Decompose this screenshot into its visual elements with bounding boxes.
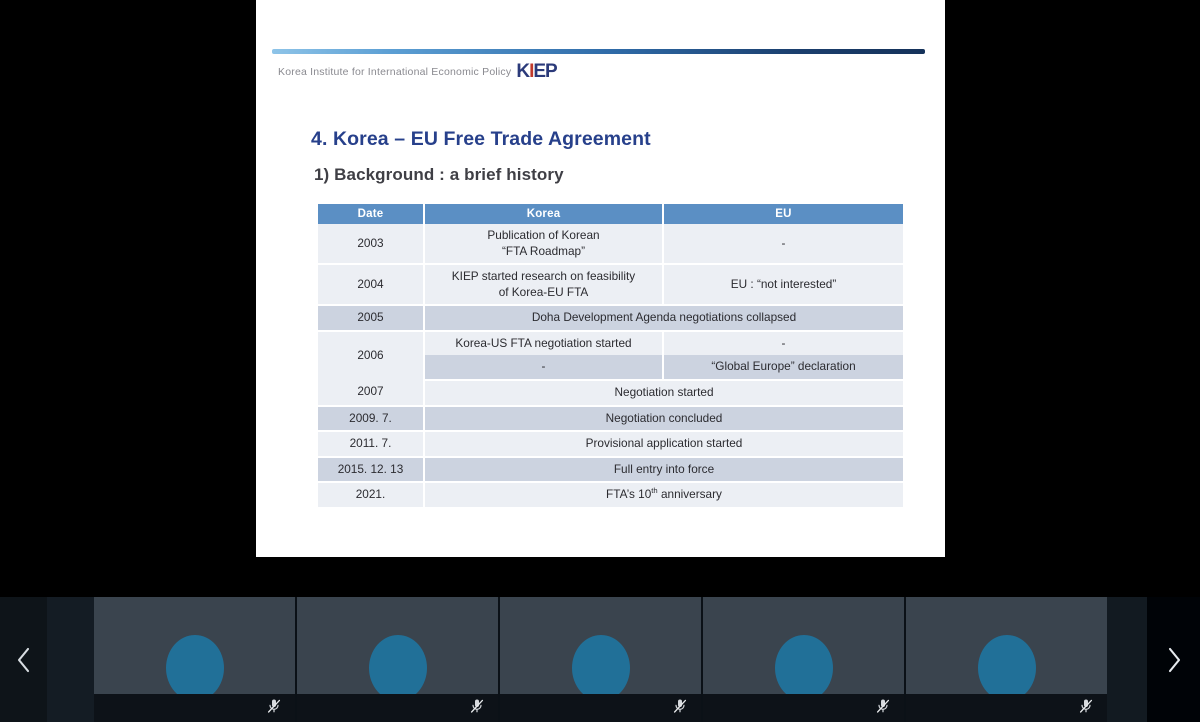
filmstrip-prev-button[interactable] [0, 597, 47, 722]
fta-history-table: Date Korea EU 2003 Publication of Korean… [318, 204, 903, 509]
participant-tile-footer [297, 694, 498, 722]
avatar [166, 635, 224, 701]
table-row: 2011. 7. Provisional application started [318, 431, 903, 457]
cell-korea: - [424, 355, 663, 380]
kiep-wordmark: KIEP [516, 61, 556, 83]
table-row: 2003 Publication of Korean “FTA Roadmap”… [318, 224, 903, 264]
table-header-row: Date Korea EU [318, 204, 903, 224]
mic-muted-icon [267, 698, 281, 719]
column-header-eu: EU [663, 204, 903, 224]
anniversary-prefix: FTA’s 10 [606, 487, 651, 501]
cell-merged: Negotiation concluded [424, 406, 903, 432]
table-row: 2004 KIEP started research on feasibilit… [318, 264, 903, 305]
cell-korea: KIEP started research on feasibility of … [424, 264, 663, 305]
video-conference-window: Korea Institute for International Econom… [0, 0, 1200, 722]
cell-date: 2021. [318, 482, 424, 508]
cell-eu: “Global Europe” declaration [663, 355, 903, 380]
cell-merged: Negotiation started [424, 380, 903, 406]
cell-korea-line2: of Korea-EU FTA [499, 285, 589, 299]
table-row: 2007 Negotiation started [318, 380, 903, 406]
cell-korea-line2: “FTA Roadmap” [502, 244, 585, 258]
kiep-letter-p: P [545, 61, 557, 82]
table-row: 2009. 7. Negotiation concluded [318, 406, 903, 432]
chevron-left-icon [14, 644, 34, 676]
cell-korea: Korea-US FTA negotiation started [424, 331, 663, 356]
cell-korea: Publication of Korean “FTA Roadmap” [424, 224, 663, 264]
kiep-logo: Korea Institute for International Econom… [278, 59, 557, 81]
cell-eu: - [663, 331, 903, 356]
filmstrip-track [0, 597, 1200, 722]
participant-filmstrip [0, 558, 1200, 722]
table-row: 2005 Doha Development Agenda negotiation… [318, 305, 903, 331]
chevron-right-icon [1164, 644, 1184, 676]
cell-date: 2004 [318, 264, 424, 305]
shared-content-stage: Korea Institute for International Econom… [0, 0, 1200, 558]
participant-tile-3[interactable] [500, 597, 701, 722]
cell-date: 2005 [318, 305, 424, 331]
participant-tile-footer [94, 694, 295, 722]
cell-date: 2011. 7. [318, 431, 424, 457]
mic-muted-icon [876, 698, 890, 719]
column-header-date: Date [318, 204, 424, 224]
cell-date: 2015. 12. 13 [318, 457, 424, 483]
column-header-korea: Korea [424, 204, 663, 224]
cell-merged: Doha Development Agenda negotiations col… [424, 305, 903, 331]
participant-tile-footer [703, 694, 904, 722]
table-body: 2003 Publication of Korean “FTA Roadmap”… [318, 224, 903, 508]
cell-date: 2007 [318, 380, 424, 406]
slide-subtitle: 1) Background : a brief history [314, 165, 564, 185]
cell-date: 2006 [318, 331, 424, 380]
filmstrip-next-button[interactable] [1147, 597, 1200, 722]
table-row: 2006 Korea-US FTA negotiation started - [318, 331, 903, 356]
participant-tile-footer [906, 694, 1107, 722]
table-row: 2021. FTA’s 10th anniversary [318, 482, 903, 508]
participant-tile-1[interactable] [94, 597, 295, 722]
cell-merged-anniversary: FTA’s 10th anniversary [424, 482, 903, 508]
anniversary-suffix: anniversary [658, 487, 722, 501]
avatar [572, 635, 630, 701]
filmstrip-right-spacer [1107, 597, 1147, 722]
cell-korea-line1: Publication of Korean [487, 228, 599, 242]
participant-tiles [94, 597, 1107, 722]
mic-muted-icon [470, 698, 484, 719]
participant-tile-5[interactable] [906, 597, 1107, 722]
participant-tile-2[interactable] [297, 597, 498, 722]
cell-eu: - [663, 224, 903, 264]
kiep-letter-e: E [533, 61, 545, 82]
cell-date: 2009. 7. [318, 406, 424, 432]
institute-name-text: Korea Institute for International Econom… [278, 66, 511, 78]
cell-merged: Provisional application started [424, 431, 903, 457]
mic-muted-icon [673, 698, 687, 719]
avatar [978, 635, 1036, 701]
presentation-slide[interactable]: Korea Institute for International Econom… [256, 0, 945, 557]
slide-title: 4. Korea – EU Free Trade Agreement [311, 128, 651, 151]
avatar [369, 635, 427, 701]
cell-date: 2003 [318, 224, 424, 264]
mic-muted-icon [1079, 698, 1093, 719]
participant-tile-footer [500, 694, 701, 722]
slide-accent-bar [272, 49, 925, 54]
table-row: 2015. 12. 13 Full entry into force [318, 457, 903, 483]
cell-merged: Full entry into force [424, 457, 903, 483]
kiep-letter-k: K [516, 61, 529, 82]
cell-korea-line1: KIEP started research on feasibility [452, 269, 635, 283]
participant-tile-4[interactable] [703, 597, 904, 722]
cell-eu: EU : “not interested” [663, 264, 903, 305]
filmstrip-left-spacer [47, 597, 94, 722]
avatar [775, 635, 833, 701]
